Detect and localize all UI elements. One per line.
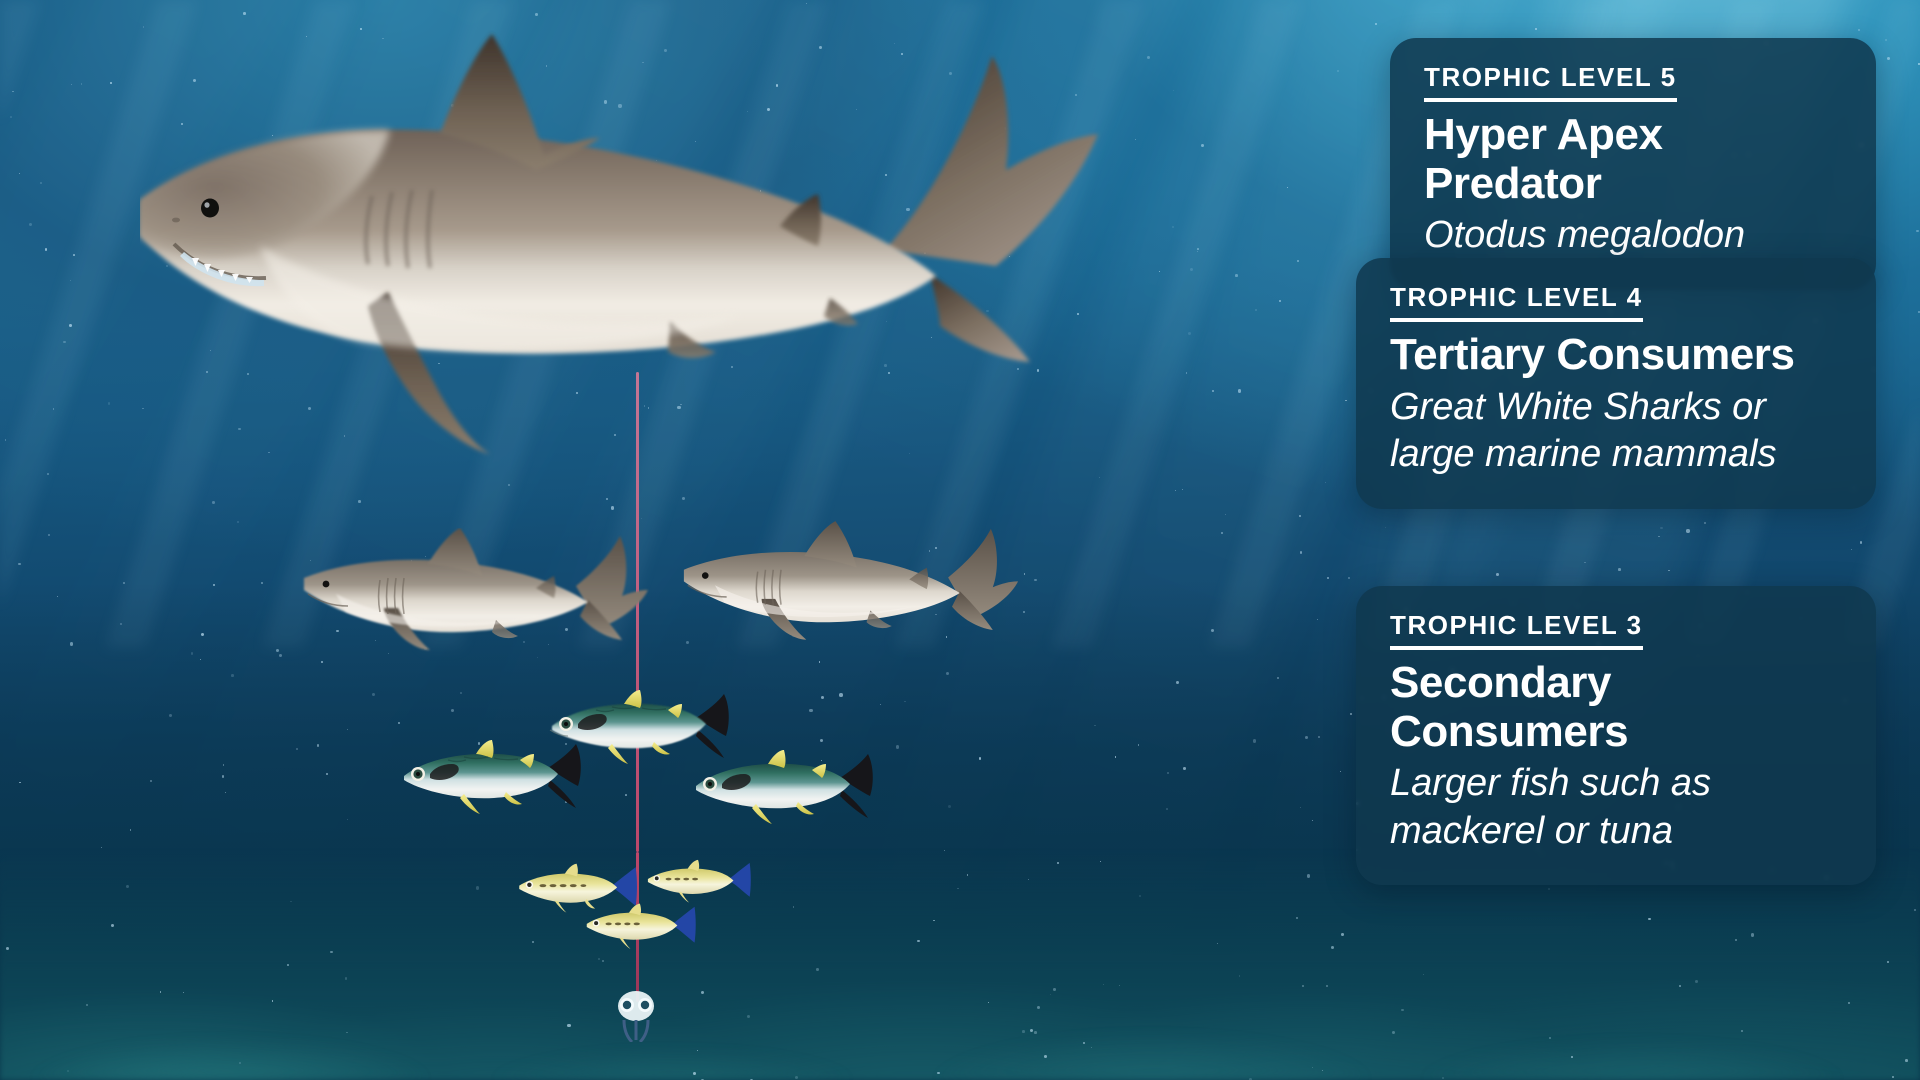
particle (1277, 677, 1279, 679)
particle (213, 584, 214, 585)
particle (967, 874, 968, 875)
particle (1037, 1006, 1041, 1010)
particle (701, 991, 704, 994)
particle (1307, 874, 1311, 878)
card-kicker: TROPHIC LEVEL 3 (1390, 612, 1643, 650)
particle (1318, 736, 1320, 738)
particle (239, 1062, 241, 1064)
particle (697, 1050, 699, 1052)
particle (1138, 744, 1139, 745)
particle (48, 534, 50, 536)
particle (398, 722, 400, 724)
particle (1094, 725, 1096, 727)
particle (1176, 681, 1179, 684)
card-description: Larger fish such as mackerel or tuna (1390, 760, 1842, 855)
particle (625, 794, 627, 796)
card-trophic-level-5[interactable]: TROPHIC LEVEL 5 Hyper Apex Predator Otod… (1390, 38, 1876, 290)
particle (1296, 917, 1298, 919)
particle (1053, 988, 1056, 991)
particle (290, 901, 292, 903)
particle (279, 654, 282, 657)
mackerel-illustration (690, 750, 890, 830)
particle (1914, 909, 1916, 911)
particle (948, 805, 951, 808)
card-title: Hyper Apex Predator (1424, 111, 1842, 208)
particle (1166, 808, 1168, 810)
particle (120, 623, 122, 625)
particle (1217, 943, 1218, 944)
particle (816, 968, 819, 971)
particle (476, 886, 480, 890)
particle (460, 692, 462, 694)
particle (1312, 820, 1313, 821)
baitfish-illustration (642, 858, 760, 906)
particle (287, 964, 289, 966)
particle (1325, 482, 1326, 483)
particle (1287, 187, 1289, 189)
card-trophic-level-4[interactable]: TROPHIC LEVEL 4 Tertiary Consumers Great… (1356, 258, 1876, 509)
particle (1201, 144, 1204, 147)
particle (1905, 1059, 1908, 1062)
particle (1057, 862, 1060, 865)
particle (602, 960, 605, 963)
particle (53, 408, 55, 410)
particle (57, 596, 58, 597)
particle (69, 324, 72, 327)
particle (1345, 400, 1346, 401)
particle (806, 3, 807, 4)
particle (108, 402, 111, 405)
plankton-illustration (602, 988, 670, 1042)
particle (5, 439, 6, 440)
particle (1279, 300, 1281, 302)
particle (243, 12, 246, 15)
particle (191, 652, 194, 655)
particle (130, 829, 132, 831)
particle (611, 506, 614, 509)
particle (1317, 619, 1318, 620)
particle (1024, 573, 1026, 575)
trophic-level-cards: TROPHIC LEVEL 5 Hyper Apex Predator Otod… (1356, 0, 1876, 1080)
particle (223, 764, 225, 766)
particle (71, 84, 72, 85)
particle (1167, 772, 1169, 774)
particle (904, 701, 905, 702)
particle (317, 744, 320, 747)
particle (81, 83, 82, 84)
particle (201, 633, 204, 636)
particle (747, 1015, 750, 1018)
particle (957, 888, 959, 890)
baitfish-illustration (580, 902, 706, 952)
particle (126, 885, 129, 888)
particle (1348, 577, 1350, 579)
particle (1083, 1042, 1085, 1044)
particle (1023, 611, 1025, 613)
particle (10, 116, 12, 118)
particle (1326, 985, 1328, 987)
particle (1028, 879, 1029, 880)
particle (693, 1072, 696, 1075)
particle (358, 500, 361, 503)
card-title: Tertiary Consumers (1390, 331, 1842, 379)
particle (1300, 551, 1302, 553)
particle (641, 518, 642, 519)
particle (1239, 975, 1240, 976)
particle (937, 1072, 939, 1074)
particle (567, 1024, 570, 1027)
particle (682, 497, 685, 500)
particle (1327, 577, 1329, 579)
particle (598, 958, 601, 961)
particle (47, 473, 49, 475)
particle (933, 920, 935, 922)
card-kicker: TROPHIC LEVEL 4 (1390, 284, 1643, 322)
particle (1238, 389, 1242, 393)
particle (101, 847, 102, 848)
particle (1235, 274, 1238, 277)
particle (29, 223, 33, 227)
particle (40, 182, 42, 184)
particle (150, 780, 152, 782)
particle (451, 709, 454, 712)
particle (1034, 1031, 1037, 1034)
particle (67, 1070, 69, 1072)
particle (946, 672, 949, 675)
particle (231, 674, 234, 677)
particle (346, 1032, 348, 1034)
particle (330, 951, 333, 954)
particle (1119, 985, 1120, 986)
particle (1022, 1030, 1025, 1033)
particle (1050, 994, 1051, 995)
particle (169, 714, 172, 717)
particle (1212, 390, 1214, 392)
particle (296, 748, 298, 750)
particle (86, 1004, 88, 1006)
particle (917, 940, 920, 943)
megalodon-eye (201, 199, 219, 218)
particle (1115, 756, 1117, 758)
particle (795, 1076, 798, 1079)
particle (345, 977, 347, 979)
megalodon-illustration (140, 30, 1200, 490)
particle (1341, 933, 1344, 936)
particle (1103, 984, 1104, 985)
particle (535, 13, 538, 16)
particle (532, 941, 534, 943)
particle (880, 704, 881, 705)
particle (1255, 309, 1257, 311)
particle (1175, 490, 1177, 492)
particle (1302, 985, 1304, 987)
particle (1300, 807, 1301, 808)
particle (372, 693, 375, 696)
particle (1034, 579, 1036, 581)
particle (276, 649, 279, 652)
particle (1337, 70, 1339, 72)
particle (1299, 515, 1301, 517)
particle (1340, 771, 1341, 772)
particle (347, 729, 348, 730)
particle (19, 782, 20, 783)
particle (793, 906, 795, 908)
great-white-shark-illustration (680, 520, 1020, 668)
particle (1297, 260, 1299, 262)
particle (212, 501, 215, 504)
particle (1892, 1076, 1894, 1078)
particle (1139, 895, 1141, 897)
particle (1211, 629, 1214, 632)
particle (143, 26, 145, 28)
particle (1916, 230, 1919, 233)
particle (1350, 713, 1352, 715)
card-description: Otodus megalodon (1424, 212, 1842, 260)
particle (1322, 1070, 1323, 1071)
particle (839, 693, 843, 697)
particle (988, 1002, 989, 1003)
particle (183, 992, 184, 993)
particle (272, 1000, 274, 1002)
particle (70, 642, 73, 645)
great-white-shark-illustration (300, 528, 650, 678)
particle (160, 991, 161, 992)
particle (1331, 946, 1334, 949)
particle (1305, 736, 1308, 739)
particle (110, 82, 112, 84)
particle (19, 173, 20, 174)
particle (1221, 532, 1224, 535)
particle (18, 563, 20, 565)
particle (820, 739, 823, 742)
particle (1885, 39, 1887, 41)
card-title: Secondary Consumers (1390, 659, 1842, 756)
particle (200, 659, 201, 660)
particle (1253, 739, 1256, 742)
particle (347, 819, 349, 821)
particle (1044, 1055, 1047, 1058)
card-kicker: TROPHIC LEVEL 5 (1424, 64, 1677, 102)
particle (45, 248, 48, 251)
particle (944, 850, 946, 852)
particle (1030, 1029, 1033, 1032)
card-description: Great White Sharks or large marine mamma… (1390, 384, 1842, 479)
particle (222, 775, 224, 777)
particle (261, 582, 264, 585)
particle (1100, 861, 1101, 862)
particle (1312, 1067, 1313, 1068)
particle (73, 254, 75, 256)
particle (6, 947, 9, 950)
particle (111, 924, 114, 927)
particle (809, 709, 812, 712)
particle (12, 91, 14, 93)
particle (1091, 1047, 1092, 1048)
particle (1887, 961, 1889, 963)
particle (896, 745, 900, 749)
particle (63, 341, 66, 344)
particle (979, 757, 982, 760)
particle (1225, 514, 1226, 515)
particle (606, 498, 608, 500)
particle (225, 792, 226, 793)
particle (821, 696, 824, 699)
particle (326, 773, 328, 775)
particle (1887, 57, 1890, 60)
particle (237, 521, 239, 523)
particle (70, 280, 71, 281)
particle (1183, 767, 1186, 770)
card-trophic-level-3[interactable]: TROPHIC LEVEL 3 Secondary Consumers Larg… (1356, 586, 1876, 885)
particle (123, 582, 125, 584)
